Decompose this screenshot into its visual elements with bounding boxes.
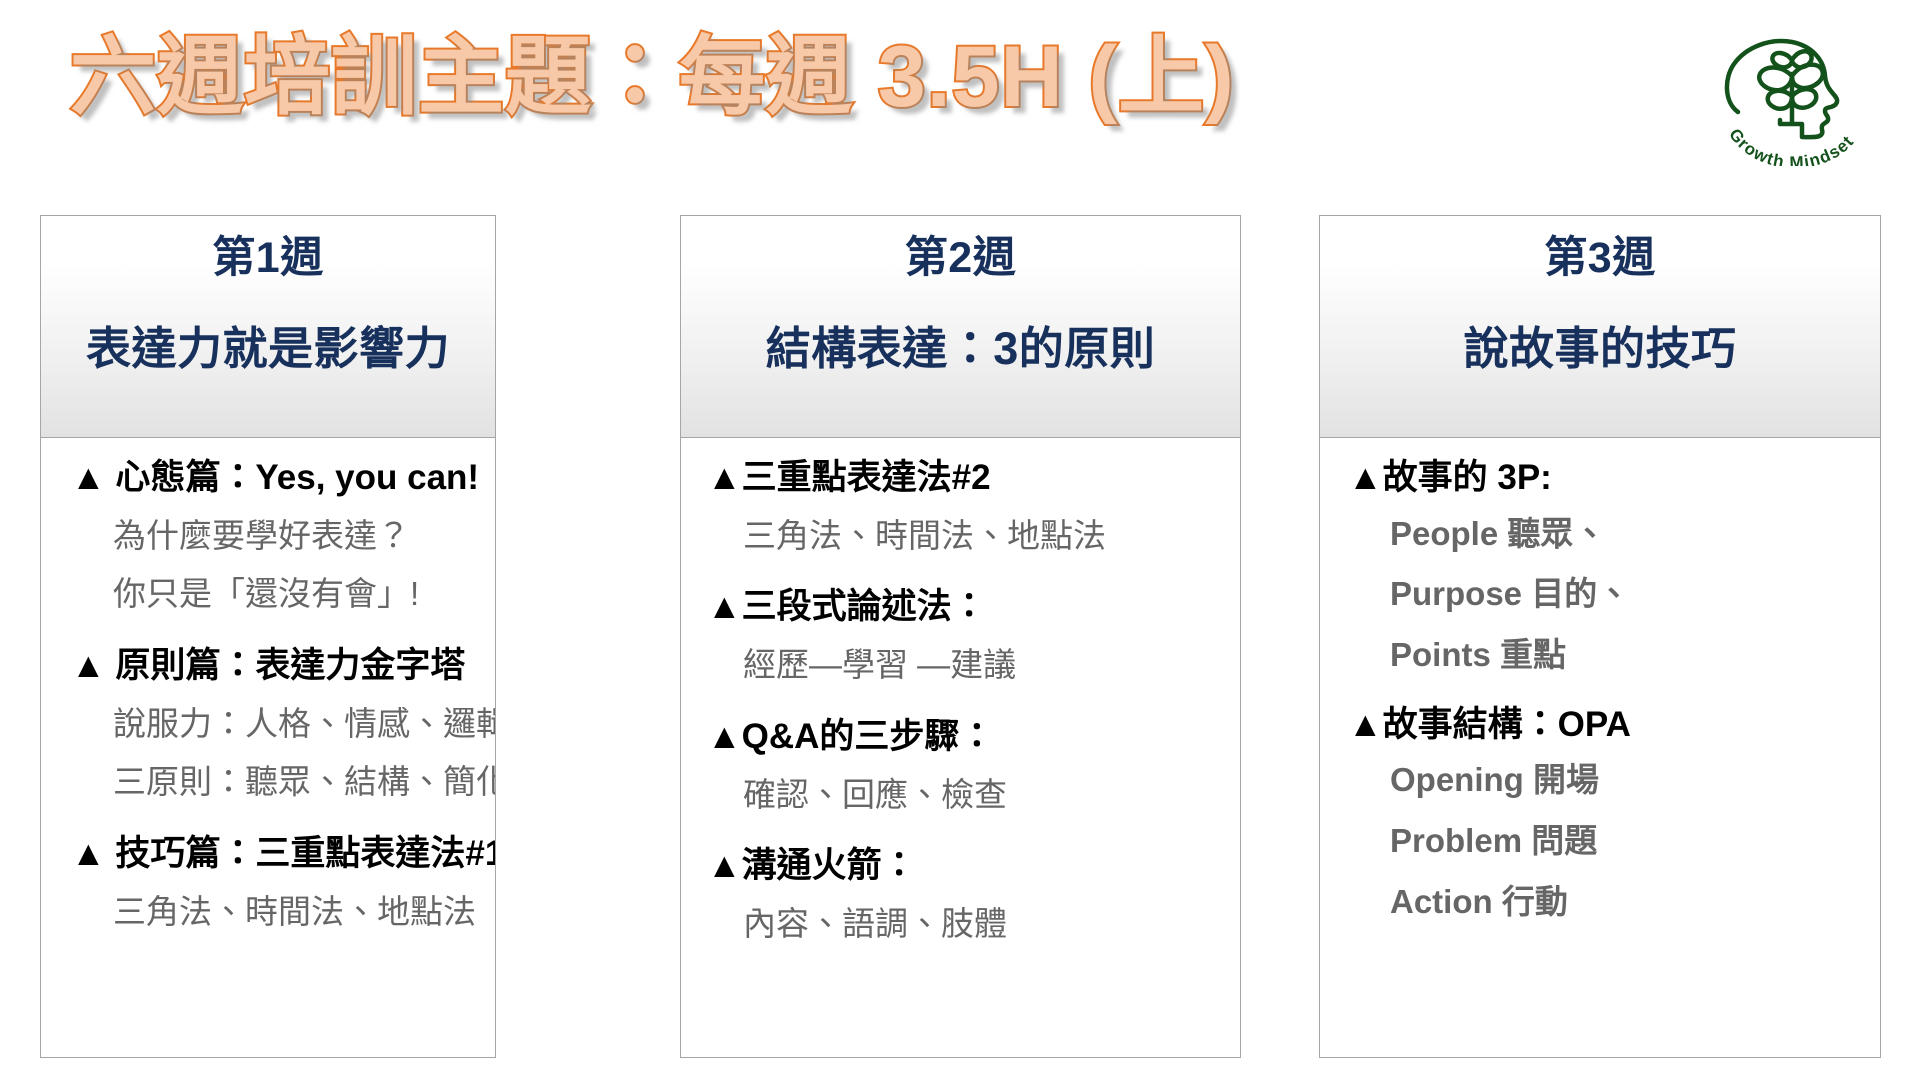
growth-mindset-logo-graphic: Growth Mindset [1702, 16, 1882, 166]
bullet-subitem: Problem 問題 [1348, 824, 1880, 885]
bullet-heading: ▲三段式論述法： [707, 579, 1240, 648]
week-card-2: 第2週 結構表達：3的原則 ▲三重點表達法#2 三角法、時間法、地點法 ▲三段式… [680, 215, 1241, 1058]
bullet-subitem: 經歷—學習 —建議 [707, 648, 1240, 709]
bullet-subitem: 確認、回應、檢查 [707, 778, 1240, 839]
week-card-2-topic: 結構表達：3的原則 [766, 322, 1156, 376]
week-card-3-body: ▲故事的 3P: People 聽眾、 Purpose 目的、 Points 重… [1320, 438, 1880, 1057]
week-card-1: 第1週 表達力就是影響力 ▲ 心態篇：Yes, you can! 為什麼要學好表… [40, 215, 496, 1058]
page-title: 六週培訓主題：每週 3.5H (上) [70, 28, 1235, 127]
week-cards-row: 第1週 表達力就是影響力 ▲ 心態篇：Yes, you can! 為什麼要學好表… [0, 215, 1920, 1060]
bullet-subitem: Opening 開場 [1348, 763, 1880, 824]
list-item: ▲故事結構：OPA Opening 開場 Problem 問題 Action 行… [1348, 699, 1880, 946]
bullet-subitem: 三原則：聽眾、結構、簡化 [71, 765, 495, 824]
week-card-3-week-label: 第3週 [1544, 232, 1655, 286]
week-card-3: 第3週 說故事的技巧 ▲故事的 3P: People 聽眾、 Purpose 目… [1319, 215, 1881, 1058]
bullet-subitem: 三角法、時間法、地點法 [71, 895, 495, 954]
bullet-heading: ▲ 心態篇：Yes, you can! [71, 460, 495, 519]
list-item: ▲溝通火箭： 內容、語調、肢體 [707, 838, 1240, 967]
list-item: ▲故事的 3P: People 聽眾、 Purpose 目的、 Points 重… [1348, 460, 1880, 699]
week-card-2-week-label: 第2週 [905, 232, 1016, 286]
list-item: ▲ 原則篇：表達力金字塔 說服力：人格、情感、邏輯 三原則：聽眾、結構、簡化 [71, 636, 495, 824]
week-card-1-header: 第1週 表達力就是影響力 [41, 216, 495, 438]
list-item: ▲Q&A的三步驟： 確認、回應、檢查 [707, 709, 1240, 838]
bullet-heading: ▲Q&A的三步驟： [707, 709, 1240, 778]
bullet-subitem: 三角法、時間法、地點法 [707, 519, 1240, 580]
week-card-3-header: 第3週 說故事的技巧 [1320, 216, 1880, 438]
week-card-2-body: ▲三重點表達法#2 三角法、時間法、地點法 ▲三段式論述法： 經歷—學習 —建議… [681, 438, 1240, 1057]
bullet-heading: ▲ 原則篇：表達力金字塔 [71, 636, 495, 707]
week-card-3-topic: 說故事的技巧 [1463, 322, 1736, 376]
bullet-subitem: 內容、語調、肢體 [707, 907, 1240, 968]
week-card-1-week-label: 第1週 [212, 232, 323, 286]
bullet-subitem: Action 行動 [1348, 885, 1880, 946]
logo-caption: Growth Mindset [1725, 125, 1858, 166]
bullet-heading: ▲三重點表達法#2 [707, 460, 1240, 519]
bullet-heading: ▲故事的 3P: [1348, 460, 1880, 517]
bullet-subitem: Points 重點 [1348, 638, 1880, 699]
week-card-1-body: ▲ 心態篇：Yes, you can! 為什麼要學好表達？ 你只是「還沒有會」!… [41, 438, 495, 1057]
list-item: ▲ 心態篇：Yes, you can! 為什麼要學好表達？ 你只是「還沒有會」! [71, 460, 495, 636]
list-item: ▲三段式論述法： 經歷—學習 —建議 [707, 579, 1240, 708]
bullet-heading: ▲溝通火箭： [707, 838, 1240, 907]
bullet-heading: ▲故事結構：OPA [1348, 699, 1880, 764]
week-card-1-topic: 表達力就是影響力 [86, 322, 450, 376]
growth-mindset-logo: Growth Mindset [1702, 16, 1882, 166]
week-card-2-header: 第2週 結構表達：3的原則 [681, 216, 1240, 438]
bullet-subitem: People 聽眾、 [1348, 517, 1880, 578]
bullet-subitem: 為什麼要學好表達？ [71, 519, 495, 578]
bullet-subitem: Purpose 目的、 [1348, 577, 1880, 638]
bullet-subitem: 你只是「還沒有會」! [71, 577, 495, 636]
bullet-heading: ▲ 技巧篇：三重點表達法#1 [71, 824, 495, 895]
list-item: ▲ 技巧篇：三重點表達法#1 三角法、時間法、地點法 [71, 824, 495, 953]
list-item: ▲三重點表達法#2 三角法、時間法、地點法 [707, 460, 1240, 579]
bullet-subitem: 說服力：人格、情感、邏輯 [71, 707, 495, 766]
